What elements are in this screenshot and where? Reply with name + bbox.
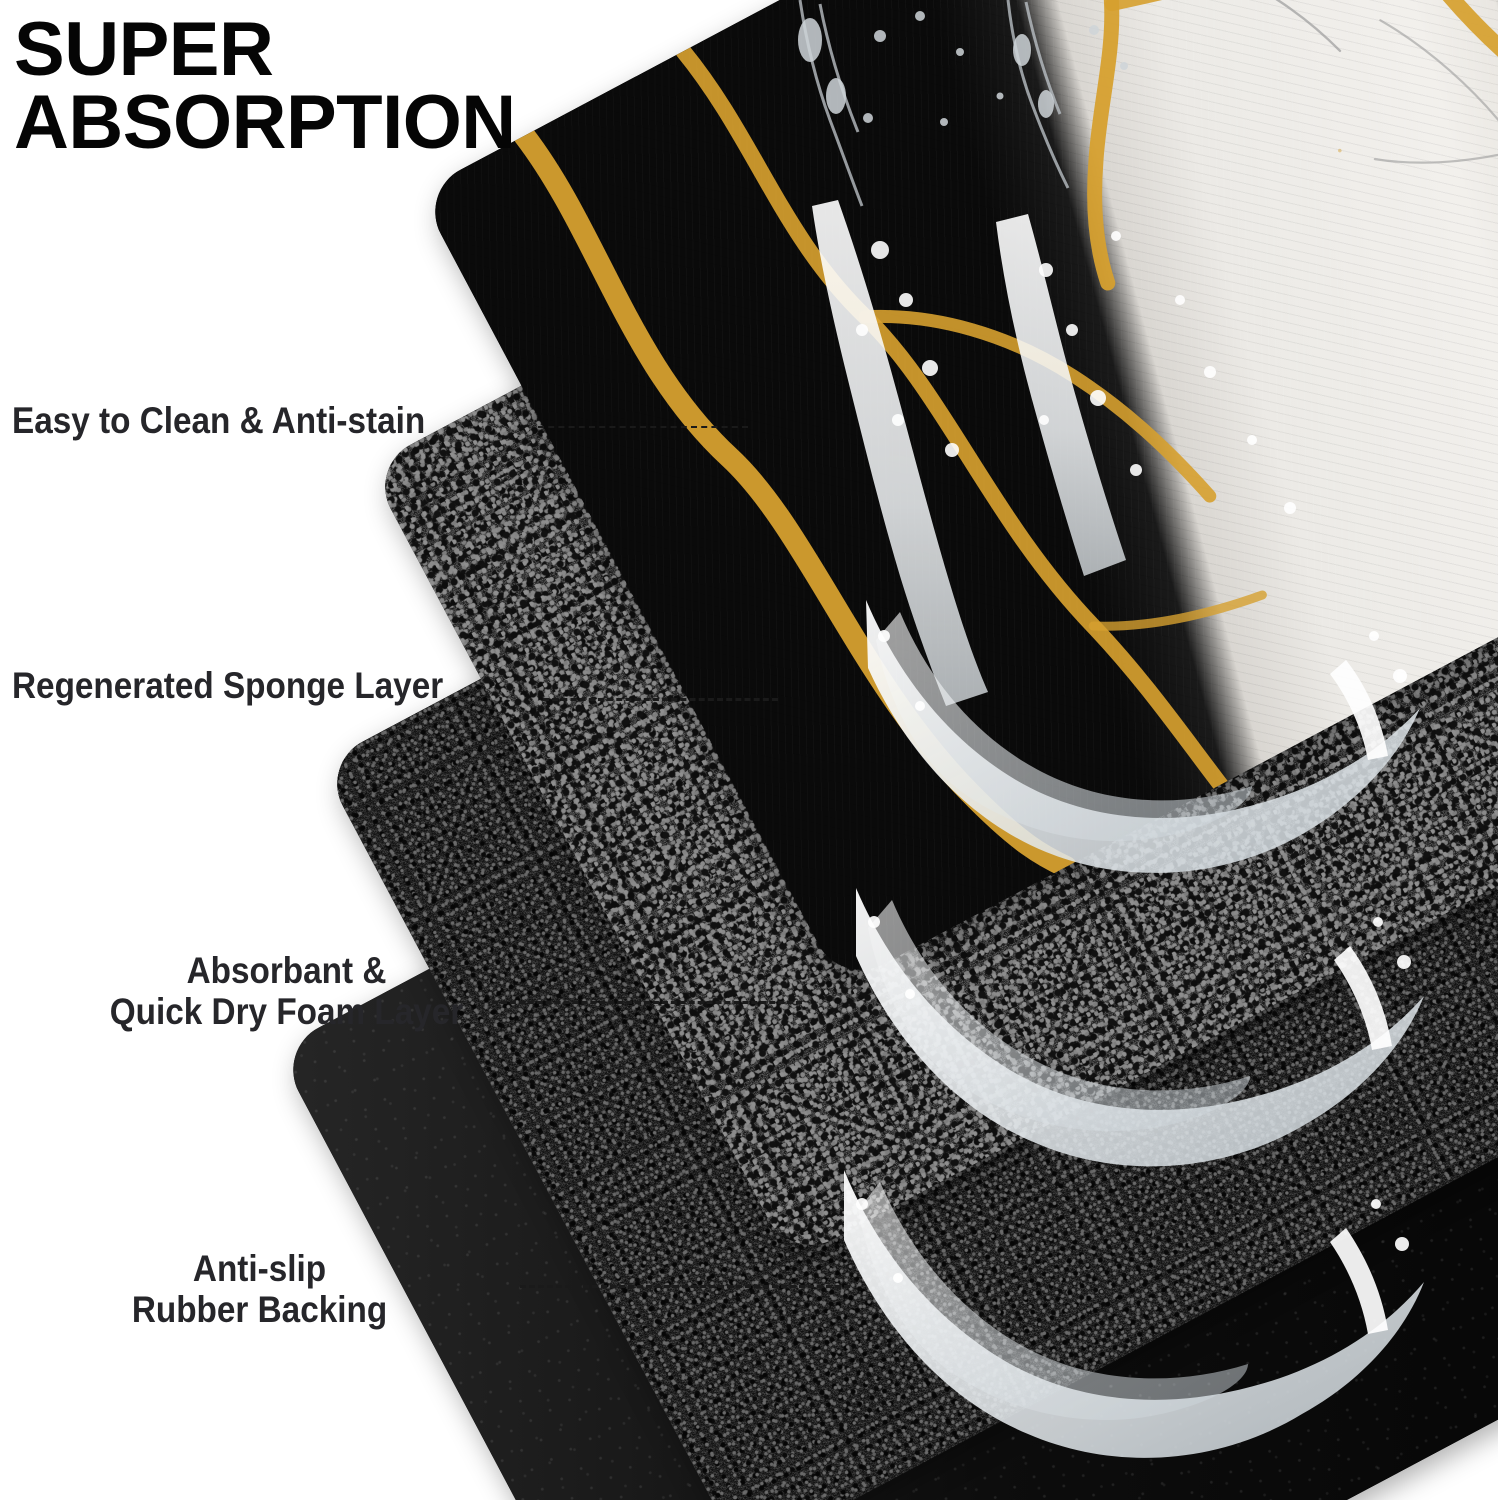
infographic-canvas: SUPER ABSORPTION <box>0 0 1498 1500</box>
page-title: SUPER ABSORPTION <box>14 14 654 160</box>
callout-anti-slip-rubber-backing-line-1: Anti-slip <box>48 1248 471 1289</box>
page-title-line-2: ABSORPTION <box>14 87 654 160</box>
callout-quick-dry-foam-layer: Absorbant & Quick Dry Foam Layer <box>48 950 525 1033</box>
callout-quick-dry-foam-layer-line-2: Quick Dry Foam Layer <box>48 991 525 1032</box>
callout-easy-to-clean-line-1: Easy to Clean & Anti-stain <box>12 400 425 441</box>
callout-easy-to-clean: Easy to Clean & Anti-stain <box>12 400 425 441</box>
callout-regenerated-sponge-layer: Regenerated Sponge Layer <box>12 665 443 706</box>
leader-line-anti-slip-rubber-backing <box>520 1285 850 1288</box>
callout-regenerated-sponge-layer-line-1: Regenerated Sponge Layer <box>12 665 443 706</box>
leader-line-regenerated-sponge-layer <box>543 698 778 701</box>
leader-line-easy-to-clean <box>538 426 748 428</box>
callout-anti-slip-rubber-backing-line-2: Rubber Backing <box>48 1289 471 1330</box>
callout-anti-slip-rubber-backing: Anti-slip Rubber Backing <box>48 1248 471 1331</box>
callout-quick-dry-foam-layer-line-1: Absorbant & <box>48 950 525 991</box>
leader-line-quick-dry-foam-layer <box>492 1001 802 1004</box>
page-title-line-1: SUPER <box>14 14 654 87</box>
